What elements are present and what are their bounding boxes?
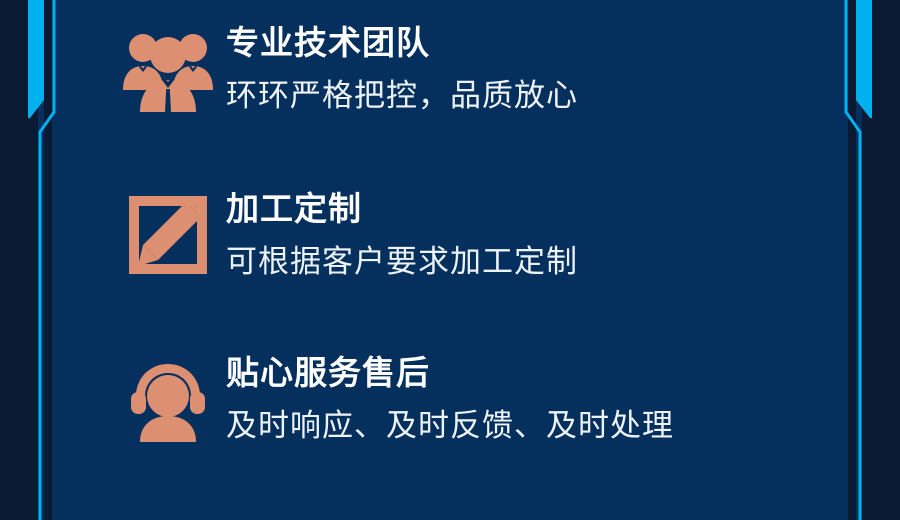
feature-item-team: 专业技术团队 环环严格把控，品质放心 bbox=[120, 22, 578, 114]
feature-description: 及时响应、及时反馈、及时处理 bbox=[226, 407, 674, 444]
feature-item-support: 贴心服务售后 及时响应、及时反馈、及时处理 bbox=[120, 352, 674, 444]
feature-text-support: 贴心服务售后 及时响应、及时反馈、及时处理 bbox=[216, 352, 674, 444]
pencil-glyph bbox=[138, 199, 204, 266]
feature-description: 环环严格把控，品质放心 bbox=[226, 77, 578, 114]
headset-support-icon bbox=[120, 352, 216, 444]
team-people-icon bbox=[120, 22, 216, 114]
feature-description: 可根据客户要求加工定制 bbox=[226, 243, 578, 280]
pencil-square-edit-icon bbox=[120, 188, 216, 278]
feature-title: 贴心服务售后 bbox=[226, 354, 674, 393]
feature-item-customization: 加工定制 可根据客户要求加工定制 bbox=[120, 188, 578, 280]
feature-list: 专业技术团队 环环严格把控，品质放心 bbox=[0, 0, 900, 520]
feature-title: 专业技术团队 bbox=[226, 24, 578, 63]
feature-text-customization: 加工定制 可根据客户要求加工定制 bbox=[216, 188, 578, 280]
promo-banner: 专业技术团队 环环严格把控，品质放心 bbox=[0, 0, 900, 520]
feature-text-team: 专业技术团队 环环严格把控，品质放心 bbox=[216, 22, 578, 114]
feature-title: 加工定制 bbox=[226, 190, 578, 229]
